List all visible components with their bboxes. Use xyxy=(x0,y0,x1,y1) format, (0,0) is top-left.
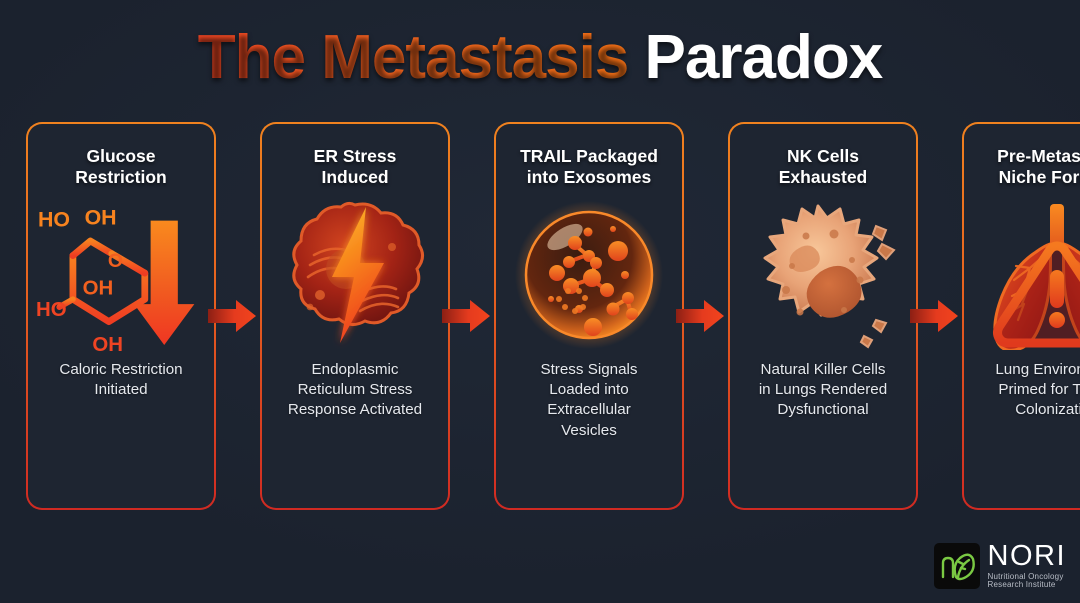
step-card-trail-exosomes[interactable]: TRAIL Packaged into Exosomes xyxy=(494,122,684,510)
connector-arrow-1 xyxy=(216,122,260,510)
step-card-description: Natural Killer Cells in Lungs Rendered D… xyxy=(759,360,887,421)
step-card-pre-metastatic-niche[interactable]: Pre-Metastatic Niche Formed xyxy=(962,122,1080,510)
molecule-label-o: O xyxy=(108,250,123,272)
nori-leaf-monogram-icon xyxy=(934,543,980,589)
natural-killer-cell-icon xyxy=(738,190,908,360)
exosome-vesicle-icon xyxy=(504,190,674,360)
connector-arrow-4 xyxy=(918,122,962,510)
step-card-title: NK Cells Exhausted xyxy=(779,146,868,190)
logo-name: NORI xyxy=(988,542,1067,571)
connector-arrow-2 xyxy=(450,122,494,510)
step-card-title: TRAIL Packaged into Exosomes xyxy=(520,146,658,190)
step-card-description: Stress Signals Loaded into Extracellular… xyxy=(540,360,637,441)
molecule-label-ho-1: HO xyxy=(38,207,70,231)
molecule-label-oh-1: OH xyxy=(85,205,117,229)
step-card-er-stress[interactable]: ER Stress Induced xyxy=(260,122,450,510)
step-card-description: Caloric Restriction Initiated xyxy=(59,360,182,400)
step-card-title: Glucose Restriction xyxy=(75,146,166,190)
infographic-canvas: The Metastasis Paradox Glucose Restricti… xyxy=(0,0,1080,603)
step-card-glucose-restriction[interactable]: Glucose Restriction xyxy=(26,122,216,510)
logo-tagline: Nutritional Oncology Research Institute xyxy=(988,573,1067,589)
step-card-title: Pre-Metastatic Niche Formed xyxy=(997,146,1080,190)
molecule-label-oh-3: OH xyxy=(92,334,123,355)
process-flow-row: Glucose Restriction xyxy=(26,122,1054,510)
glucose-molecule-down-arrow-icon: HO OH O OH HO OH xyxy=(36,190,206,360)
title-highlight: The Metastasis xyxy=(198,23,629,92)
page-title: The Metastasis Paradox xyxy=(0,22,1080,93)
molecule-label-oh-2: OH xyxy=(83,277,114,299)
molecule-label-ho-2: HO xyxy=(36,299,67,321)
lungs-warning-icon xyxy=(972,190,1080,360)
stressed-cell-lightning-icon xyxy=(270,190,440,360)
step-card-description: Lung Environment Primed for Tumor Coloni… xyxy=(995,360,1080,421)
step-card-title: ER Stress Induced xyxy=(314,146,397,190)
connector-arrow-3 xyxy=(684,122,728,510)
step-card-description: Endoplasmic Reticulum Stress Response Ac… xyxy=(288,360,422,421)
nori-logo[interactable]: NORI Nutritional Oncology Research Insti… xyxy=(934,542,1067,589)
step-card-nk-cells-exhausted[interactable]: NK Cells Exhausted xyxy=(728,122,918,510)
title-plain: Paradox xyxy=(645,23,883,92)
